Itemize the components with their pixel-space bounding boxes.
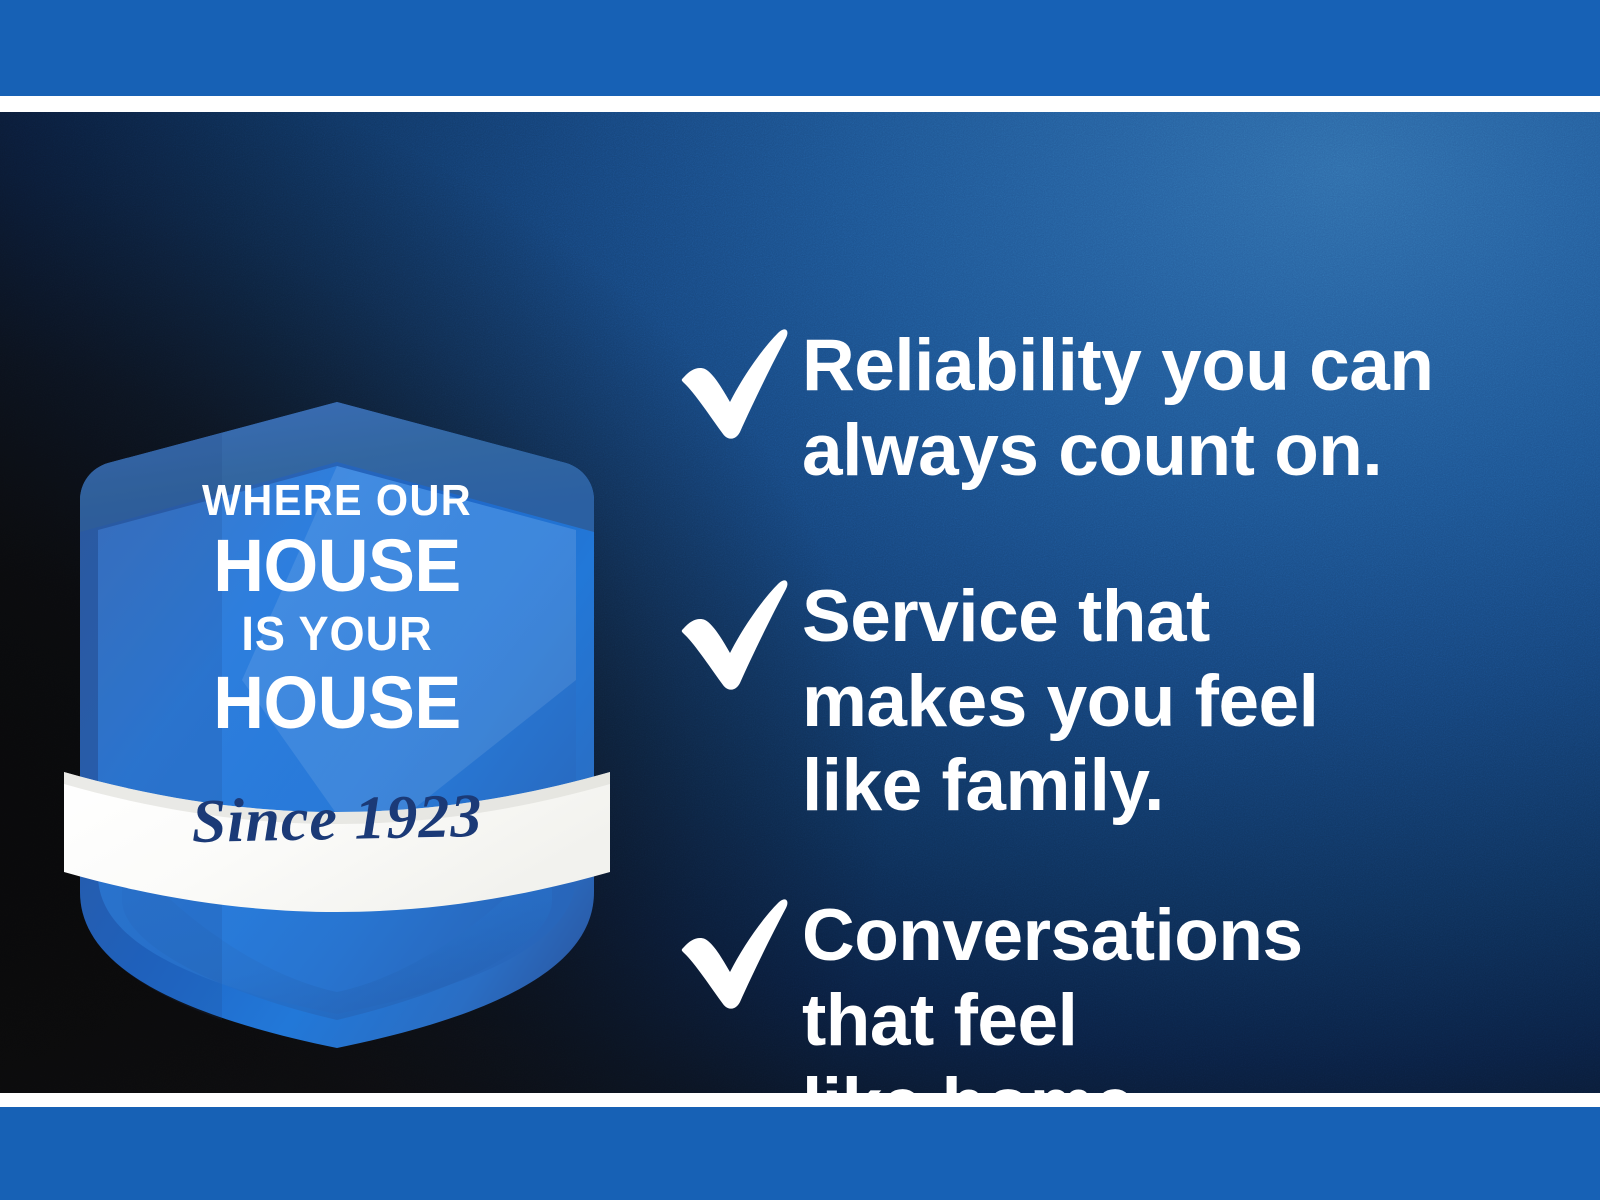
benefit-text-service: Service that makes you feel like family. xyxy=(802,573,1318,829)
benefit-line: like home. xyxy=(802,1063,1303,1093)
benefit-item-service: Service that makes you feel like family. xyxy=(668,573,1318,829)
benefit-text-reliability: Reliability you can always count on. xyxy=(802,322,1433,493)
checkmark-icon xyxy=(668,892,792,1010)
benefit-text-conversations: Conversations that feel like home. xyxy=(802,892,1303,1093)
benefit-line: Service that xyxy=(802,575,1318,660)
top-brand-bar xyxy=(0,0,1600,96)
shield-left-shade xyxy=(80,433,222,1020)
checkmark-icon xyxy=(668,573,792,691)
content-panel: WHERE OUR HOUSE IS YOUR HOUSE Since 1923… xyxy=(0,112,1600,1093)
benefit-item-conversations: Conversations that feel like home. xyxy=(668,892,1303,1093)
checkmark-icon xyxy=(668,322,792,440)
benefit-line: Conversations xyxy=(802,894,1303,979)
bottom-brand-bar xyxy=(0,1107,1600,1200)
benefit-line: Reliability you can xyxy=(802,324,1433,409)
benefit-item-reliability: Reliability you can always count on. xyxy=(668,322,1433,493)
benefit-line: that feel xyxy=(802,979,1303,1064)
promotional-poster: WHERE OUR HOUSE IS YOUR HOUSE Since 1923… xyxy=(0,0,1600,1200)
shield-logo: WHERE OUR HOUSE IS YOUR HOUSE Since 1923 xyxy=(62,380,612,1048)
benefit-line: makes you feel xyxy=(802,660,1318,745)
benefit-line: like family. xyxy=(802,744,1318,829)
benefit-line: always count on. xyxy=(802,409,1433,494)
